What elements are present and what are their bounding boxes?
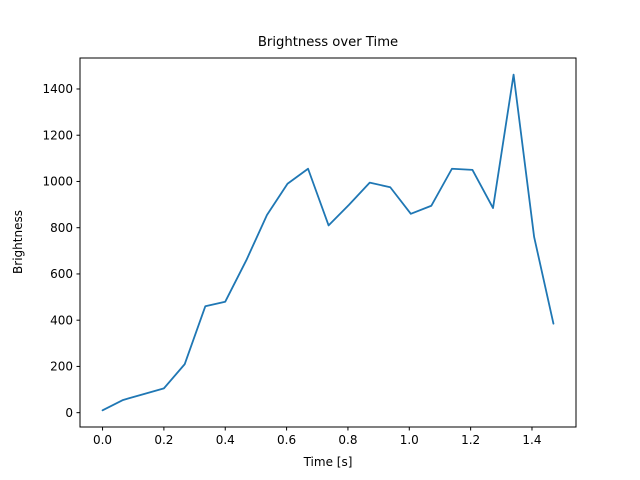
x-axis-label: Time [s]: [303, 455, 353, 469]
y-tick-label: 600: [50, 267, 73, 281]
x-tick-label: 0.2: [154, 433, 173, 447]
x-tick-label: 0.8: [338, 433, 357, 447]
x-tick-label: 1.4: [522, 433, 541, 447]
x-tick-label: 0.0: [93, 433, 112, 447]
y-tick-label: 1000: [42, 175, 73, 189]
y-tick-label: 0: [65, 406, 73, 420]
x-tick-label: 0.6: [277, 433, 296, 447]
y-tick-label: 800: [50, 221, 73, 235]
x-tick-label: 1.0: [400, 433, 419, 447]
y-tick-label: 200: [50, 360, 73, 374]
chart-title: Brightness over Time: [258, 35, 398, 50]
y-tick-label: 1200: [42, 128, 73, 142]
x-tick-label: 0.4: [216, 433, 235, 447]
plot-area-background: [80, 58, 576, 427]
matplotlib-figure: 0.00.20.40.60.81.01.21.4 020040060080010…: [0, 0, 640, 480]
y-tick-label: 400: [50, 313, 73, 327]
x-tick-label: 1.2: [461, 433, 480, 447]
brightness-over-time-chart: 0.00.20.40.60.81.01.21.4 020040060080010…: [0, 0, 640, 480]
y-axis-label: Brightness: [11, 210, 25, 274]
y-tick-label: 1400: [42, 82, 73, 96]
